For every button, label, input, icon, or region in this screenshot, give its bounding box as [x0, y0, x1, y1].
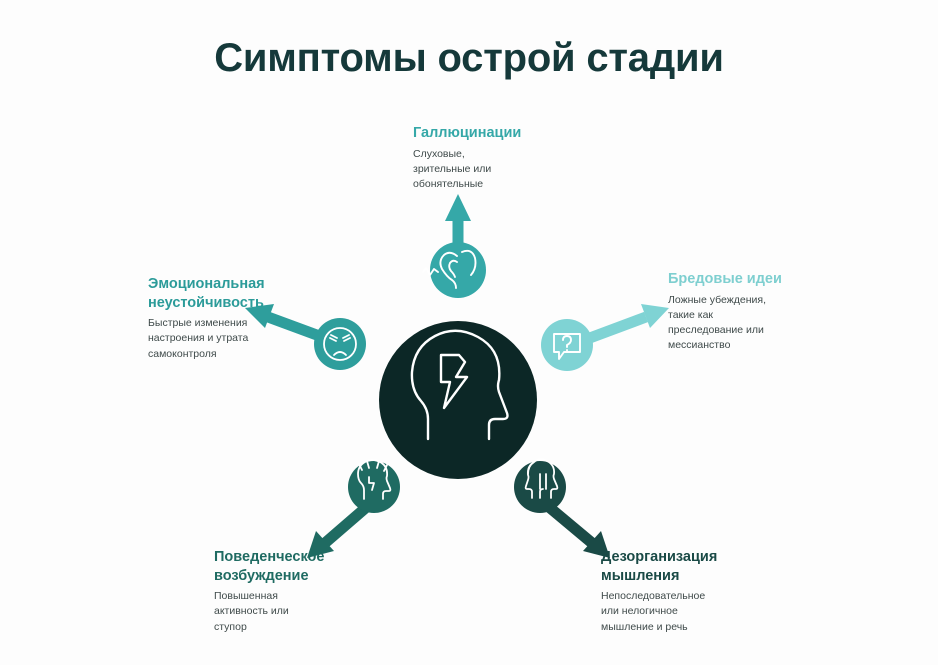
- label-disorganized-thinking-body: Непоследовательное или нелогичное мышлен…: [601, 589, 781, 635]
- infographic-root: Симптомы острой стадии: [0, 0, 938, 665]
- label-behavioral-agitation-body: Повышенная активность или ступор: [214, 589, 384, 635]
- node-behavioral-agitation[interactable]: [348, 460, 400, 513]
- node-hallucinations[interactable]: [423, 242, 486, 298]
- label-emotional-instability-heading: Эмоциональная неустойчивость: [148, 275, 298, 312]
- label-hallucinations-heading: Галлюцинации: [413, 124, 593, 143]
- label-behavioral-agitation-heading: Поведенческое возбуждение: [214, 548, 384, 585]
- node-emotional-instability[interactable]: [314, 318, 366, 370]
- center-node: [379, 321, 537, 479]
- node-disorganized-thinking[interactable]: [514, 459, 566, 513]
- label-emotional-instability-body: Быстрые изменения настроения и утрата са…: [148, 316, 298, 362]
- label-delusions-body: Ложные убеждения, такие как преследовани…: [668, 293, 838, 354]
- label-disorganized-thinking: Дезорганизация мышления Непоследовательн…: [601, 548, 781, 635]
- node-delusions[interactable]: [541, 319, 593, 371]
- label-behavioral-agitation: Поведенческое возбуждение Повышенная акт…: [214, 548, 384, 635]
- label-hallucinations-body: Слуховые, зрительные или обонятельные: [413, 147, 593, 193]
- label-emotional-instability: Эмоциональная неустойчивость Быстрые изм…: [148, 275, 298, 362]
- label-delusions-heading: Бредовые идеи: [668, 270, 838, 289]
- label-delusions: Бредовые идеи Ложные убеждения, такие ка…: [668, 270, 838, 353]
- label-hallucinations: Галлюцинации Слуховые, зрительные или об…: [413, 124, 593, 192]
- label-disorganized-thinking-heading: Дезорганизация мышления: [601, 548, 781, 585]
